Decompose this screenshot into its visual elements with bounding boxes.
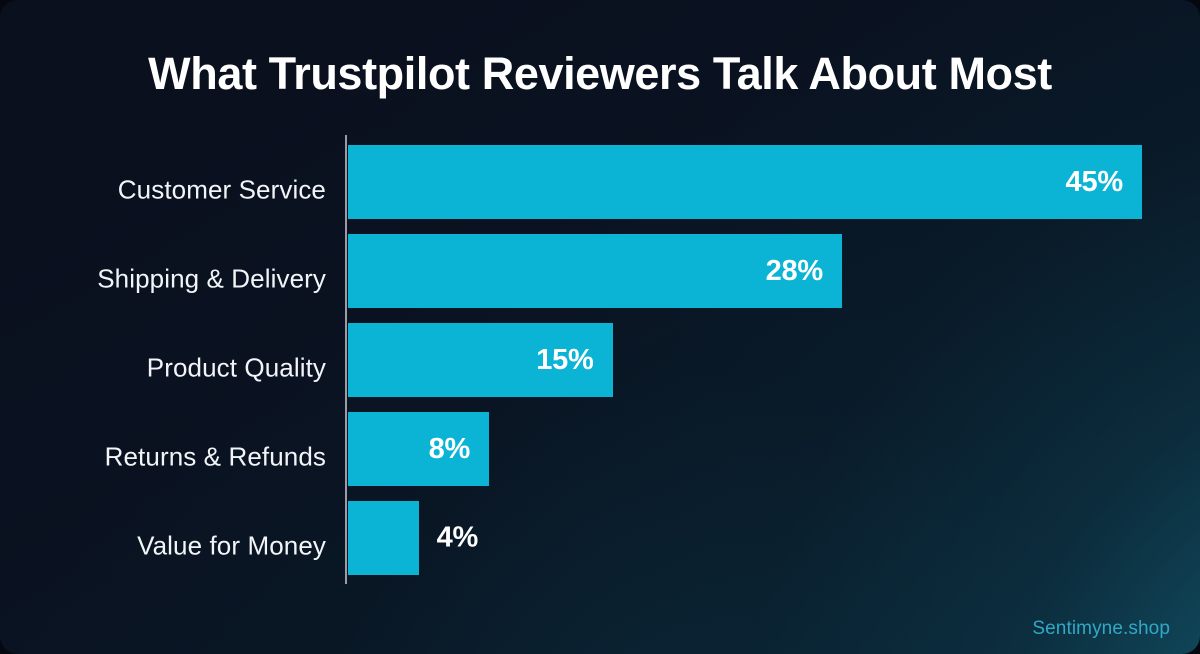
bar-track: 28%: [348, 234, 1200, 308]
bar-value-label: 45%: [1066, 166, 1142, 199]
bar-row: Returns & Refunds 8%: [0, 412, 1200, 501]
bar-track: 45%: [348, 145, 1200, 219]
category-label: Shipping & Delivery: [0, 263, 326, 294]
bar[interactable]: 28%: [348, 234, 842, 308]
bar-value-label: 4%: [437, 522, 479, 555]
bar[interactable]: 15%: [348, 323, 613, 397]
plot-area: Customer Service 45% Shipping & Delivery…: [0, 0, 1200, 654]
bar[interactable]: 45%: [348, 145, 1142, 219]
bar-value-label: 15%: [536, 344, 612, 377]
bar[interactable]: 8%: [348, 412, 489, 486]
bar-value-label: 28%: [766, 255, 842, 288]
category-label: Value for Money: [0, 530, 326, 561]
chart-canvas: What Trustpilot Reviewers Talk About Mos…: [0, 0, 1200, 654]
category-label: Customer Service: [0, 174, 326, 205]
bar-track: 4%: [348, 501, 1200, 575]
bar-rows: Customer Service 45% Shipping & Delivery…: [0, 145, 1200, 590]
bar[interactable]: [348, 501, 419, 575]
bar-row: Value for Money 4%: [0, 501, 1200, 590]
bar-value-label: 8%: [429, 433, 490, 466]
watermark-label: Sentimyne.shop: [1032, 618, 1170, 640]
category-label: Product Quality: [0, 352, 326, 383]
bar-track: 8%: [348, 412, 1200, 486]
category-label: Returns & Refunds: [0, 441, 326, 472]
bar-row: Shipping & Delivery 28%: [0, 234, 1200, 323]
bar-row: Customer Service 45%: [0, 145, 1200, 234]
bar-row: Product Quality 15%: [0, 323, 1200, 412]
bar-track: 15%: [348, 323, 1200, 397]
